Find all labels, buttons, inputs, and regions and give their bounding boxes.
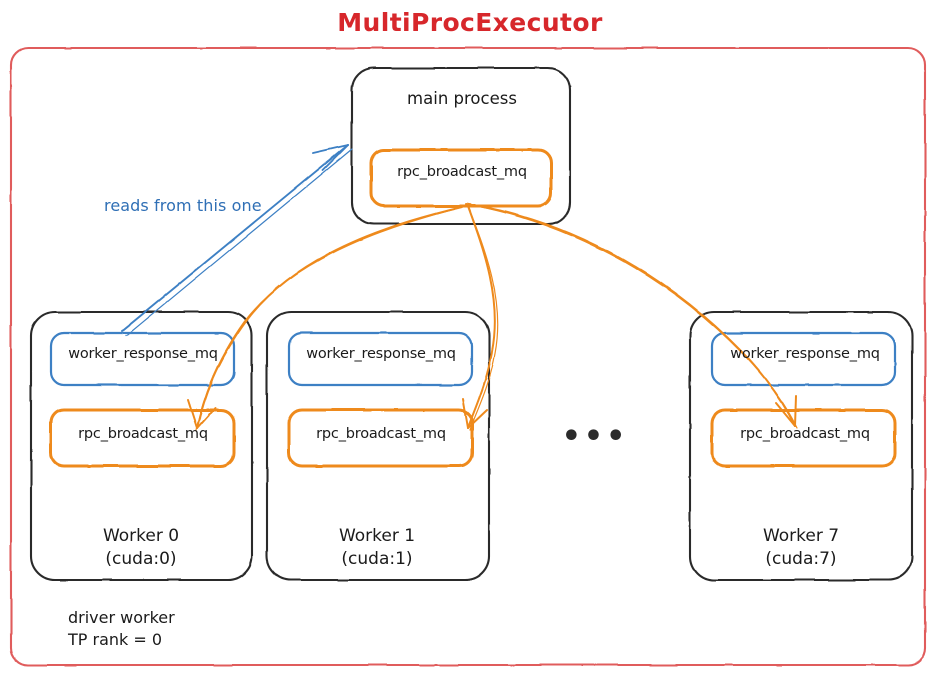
broadcast-arrow-worker-1 — [468, 206, 495, 428]
broadcast-arrow-worker-0 — [197, 207, 462, 428]
reads-from-annotation: reads from this one — [104, 196, 334, 216]
worker-7-name-label: Worker 7 (cuda:7) — [690, 525, 912, 571]
worker-0-response-mq-label: worker_response_mq — [50, 345, 236, 364]
main-process-label: main process — [352, 88, 572, 109]
worker-1-name-label: Worker 1 (cuda:1) — [265, 525, 489, 571]
broadcast-arrows — [188, 204, 797, 430]
worker-1-response-mq-label: worker_response_mq — [288, 345, 474, 364]
worker-1-broadcast-mq-label: rpc_broadcast_mq — [288, 425, 474, 444]
worker-0-name-label: Worker 0 (cuda:0) — [30, 525, 252, 571]
main-process-broadcast-mq-label: rpc_broadcast_mq — [372, 163, 552, 182]
broadcast-arrow-worker-7 — [466, 204, 795, 426]
driver-worker-annotation: driver worker TP rank = 0 — [68, 607, 308, 652]
workers-ellipsis: ••• — [540, 418, 650, 456]
page-title: MultiProcExecutor — [0, 8, 940, 37]
worker-7-broadcast-mq-label: rpc_broadcast_mq — [712, 425, 898, 444]
worker-0-broadcast-mq-label: rpc_broadcast_mq — [50, 425, 236, 444]
reads-from-arrow — [122, 145, 352, 336]
diagram-canvas: MultiProcExecutor main process rpc_broad… — [0, 0, 940, 680]
worker-7-response-mq-label: worker_response_mq — [712, 345, 898, 364]
